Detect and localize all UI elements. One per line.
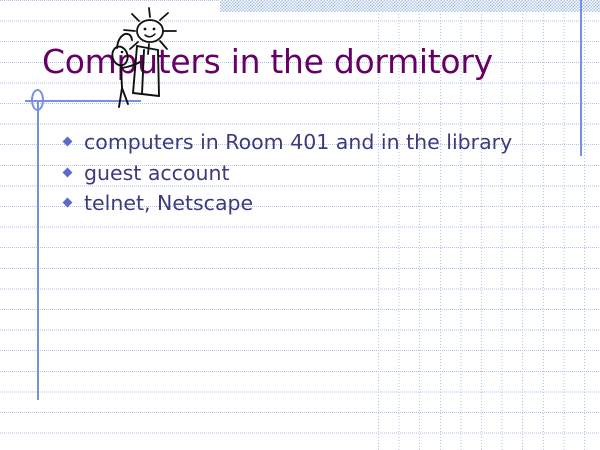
list-item: telnet, Netscape — [62, 190, 514, 217]
left-vertical-rule — [37, 100, 39, 400]
bullet-diamond-icon — [63, 137, 73, 147]
list-item-label: telnet, Netscape — [84, 191, 253, 215]
top-checkered-band — [220, 0, 600, 12]
bullet-list: computers in Room 401 and in the library… — [62, 129, 514, 221]
page-title: Computers in the dormitory — [42, 44, 562, 80]
list-item: computers in Room 401 and in the library — [62, 129, 514, 156]
list-item-label: computers in Room 401 and in the library — [84, 130, 512, 154]
title-underline-rule — [25, 100, 141, 102]
list-item-label: guest account — [84, 161, 230, 185]
bullet-diamond-icon — [63, 198, 73, 208]
slide-canvas: Computers in the dormitory — [0, 0, 600, 450]
bullet-diamond-icon — [63, 167, 73, 177]
right-vertical-rule — [580, 0, 582, 156]
circle-crosshair-marker-icon — [31, 89, 44, 111]
list-item: guest account — [62, 160, 514, 187]
